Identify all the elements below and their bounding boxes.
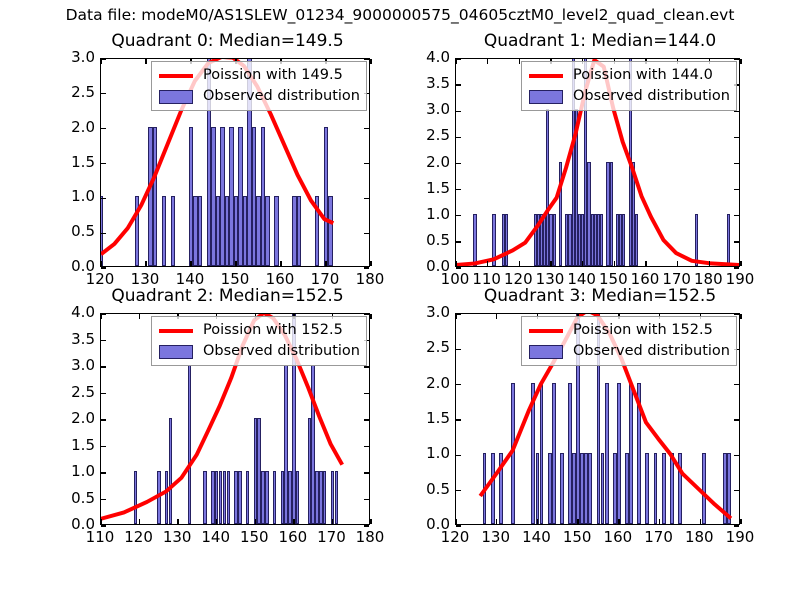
x-axis-tick [740,314,741,319]
x-axis-label: 160 [604,530,633,545]
y-axis-tick [734,58,739,59]
y-axis-label: 4.0 [426,50,450,65]
x-axis-tick [100,261,101,266]
x-axis-tick [550,261,551,266]
y-axis-tick [101,313,106,314]
y-axis-tick [364,198,369,199]
legend-entry: Observed distribution [157,86,360,107]
y-axis-tick [364,366,369,367]
legend-line-swatch [159,329,193,333]
x-axis-tick [709,261,710,266]
quadrant-1-plot-area: Poission with 144.0Observed distribution [455,58,740,267]
legend-entry-label: Poission with 149.5 [197,65,343,86]
legend-entry: Poission with 144.0 [527,65,730,86]
legend-patch-swatch [529,345,563,359]
y-axis-label: 1.5 [71,155,95,170]
x-axis-tick [659,519,660,524]
legend-entry-label: Observed distribution [197,341,360,362]
legend-entry-label: Observed distribution [567,341,730,362]
figure-suptitle: Data file: modeM0/AS1SLEW_01234_90000005… [0,5,800,25]
y-axis-label: 3.0 [71,358,95,373]
x-axis-label: 140 [522,530,551,545]
x-axis-tick [455,519,456,524]
legend-entry: Poission with 149.5 [157,65,360,86]
x-axis-tick [496,314,497,319]
x-axis-tick [740,59,741,64]
x-axis-tick [100,519,101,524]
x-axis-label: 170 [644,530,673,545]
quadrant-1-title: Quadrant 1: Median=144.0 [400,30,800,52]
x-axis-label: 150 [240,530,269,545]
x-axis-tick [645,261,646,266]
y-axis-tick [101,163,106,164]
subplot-quadrant-2: Quadrant 2: Median=152.5Poission with 15… [55,285,400,555]
y-axis-tick [101,58,106,59]
x-axis-label: 140 [201,530,230,545]
y-axis-label: 0.5 [71,491,95,506]
x-axis-tick [487,261,488,266]
figure-canvas: Data file: modeM0/AS1SLEW_01234_90000005… [0,0,800,600]
x-axis-tick [216,519,217,524]
x-axis-tick [332,519,333,524]
x-axis-tick [614,261,615,266]
x-axis-label: 130 [163,530,192,545]
x-axis-tick [677,261,678,266]
x-axis-label: 130 [481,530,510,545]
legend-entry: Observed distribution [527,341,730,362]
legend-entry-label: Observed distribution [197,86,360,107]
x-axis-label: 120 [441,530,470,545]
x-axis-tick [370,59,371,64]
y-axis-tick [456,384,461,385]
legend-patch-swatch [159,345,193,359]
x-axis-tick [455,261,456,266]
subplot-quadrant-3: Quadrant 3: Median=152.5Poission with 15… [400,285,800,555]
x-axis-tick [100,314,101,319]
y-axis-tick [101,128,106,129]
x-axis-tick [235,261,236,266]
legend-line-swatch [529,329,563,333]
x-axis-tick [293,519,294,524]
y-axis-tick [734,267,739,268]
y-axis-label: 2.0 [426,155,450,170]
y-axis-tick [364,267,369,268]
y-axis-tick [456,111,461,112]
x-axis-tick [740,261,741,266]
y-axis-tick [734,189,739,190]
y-axis-label: 0.5 [71,224,95,239]
x-axis-label: 180 [356,530,385,545]
y-axis-tick [734,419,739,420]
y-axis-tick [364,313,369,314]
x-axis-tick [280,261,281,266]
y-axis-label: 1.5 [71,438,95,453]
y-axis-label: 0.5 [426,482,450,497]
x-axis-tick [370,261,371,266]
x-axis-tick [537,519,538,524]
x-axis-tick [255,519,256,524]
y-axis-tick [734,241,739,242]
x-axis-label: 160 [279,530,308,545]
y-axis-tick [364,472,369,473]
y-axis-tick [734,137,739,138]
legend-entry: Observed distribution [527,86,730,107]
y-axis-tick [101,472,106,473]
y-axis-tick [734,384,739,385]
x-axis-tick [370,519,371,524]
y-axis-label: 2.0 [426,376,450,391]
legend-entry-label: Poission with 152.5 [567,320,713,341]
quadrant-0-title: Quadrant 0: Median=149.5 [55,30,400,52]
y-axis-label: 2.0 [71,120,95,135]
y-axis-tick [101,499,106,500]
y-axis-tick [456,313,461,314]
x-axis-tick [139,519,140,524]
y-axis-tick [456,163,461,164]
x-axis-tick [487,59,488,64]
y-axis-tick [734,490,739,491]
quadrant-1-legend[interactable]: Poission with 144.0Observed distribution [521,61,737,111]
quadrant-3-legend[interactable]: Poission with 152.5Observed distribution [521,316,737,366]
legend-entry: Observed distribution [157,341,360,362]
y-axis-tick [734,163,739,164]
x-axis-tick [370,314,371,319]
y-axis-tick [364,525,369,526]
y-axis-label: 1.0 [71,464,95,479]
y-axis-label: 2.0 [71,411,95,426]
y-axis-tick [101,233,106,234]
quadrant-3-plot-area: Poission with 152.5Observed distribution [455,313,740,525]
legend-patch-swatch [159,90,193,104]
y-axis-label: 3.5 [71,332,95,347]
y-axis-tick [101,393,106,394]
y-axis-tick [456,215,461,216]
y-axis-tick [364,128,369,129]
y-axis-tick [456,267,461,268]
y-axis-tick [364,163,369,164]
y-axis-label: 2.5 [71,385,95,400]
x-axis-tick [740,519,741,524]
y-axis-label: 2.5 [426,128,450,143]
subplot-quadrant-1: Quadrant 1: Median=144.0Poission with 14… [400,30,800,295]
y-axis-label: 1.0 [426,207,450,222]
y-axis-tick [456,189,461,190]
quadrant-2-plot-area: Poission with 152.5Observed distribution [100,313,370,525]
x-axis-label: 110 [86,530,115,545]
legend-line-swatch [159,74,193,78]
x-axis-tick [700,519,701,524]
subplot-quadrant-0: Quadrant 0: Median=149.5Poission with 14… [55,30,400,295]
y-axis-label: 2.5 [426,340,450,355]
y-axis-tick [101,366,106,367]
y-axis-tick [734,313,739,314]
y-axis-label: 3.5 [426,76,450,91]
x-axis-tick [145,59,146,64]
y-axis-label: 1.5 [426,411,450,426]
y-axis-tick [364,419,369,420]
y-axis-label: 3.0 [426,102,450,117]
y-axis-label: 1.5 [426,181,450,196]
y-axis-tick [364,58,369,59]
y-axis-tick [456,455,461,456]
x-axis-label: 120 [124,530,153,545]
legend-entry-label: Observed distribution [567,86,730,107]
x-axis-tick [325,261,326,266]
y-axis-tick [456,84,461,85]
y-axis-tick [101,525,106,526]
y-axis-tick [734,525,739,526]
x-axis-tick [455,314,456,319]
legend-entry-label: Poission with 144.0 [567,65,713,86]
x-axis-tick [582,261,583,266]
y-axis-tick [456,490,461,491]
quadrant-2-title: Quadrant 2: Median=152.5 [55,285,400,307]
y-axis-label: 0.5 [426,233,450,248]
y-axis-tick [456,419,461,420]
x-axis-tick [519,59,520,64]
y-axis-tick [364,499,369,500]
y-axis-tick [456,58,461,59]
y-axis-label: 1.0 [71,189,95,204]
x-axis-label: 170 [317,530,346,545]
x-axis-label: 180 [685,530,714,545]
legend-entry-label: Poission with 152.5 [197,320,343,341]
quadrant-2-legend[interactable]: Poission with 152.5Observed distribution [151,316,367,366]
y-axis-tick [364,393,369,394]
x-axis-tick [190,261,191,266]
quadrant-3-title: Quadrant 3: Median=152.5 [400,285,800,307]
legend-entry: Poission with 152.5 [527,320,730,341]
y-axis-tick [364,233,369,234]
x-axis-tick [496,519,497,524]
x-axis-label: 150 [563,530,592,545]
y-axis-tick [364,446,369,447]
x-axis-tick [139,314,140,319]
legend-line-swatch [529,74,563,78]
quadrant-0-plot-area: Poission with 149.5Observed distribution [100,58,370,267]
y-axis-tick [101,93,106,94]
y-axis-label: 2.5 [71,85,95,100]
y-axis-label: 3.0 [71,50,95,65]
x-axis-tick [577,519,578,524]
legend-patch-swatch [529,90,563,104]
quadrant-0-legend[interactable]: Poission with 149.5Observed distribution [151,61,367,111]
y-axis-label: 1.0 [426,446,450,461]
y-axis-tick [101,340,106,341]
y-axis-tick [456,137,461,138]
y-axis-label: 3.0 [426,305,450,320]
y-axis-tick [456,349,461,350]
y-axis-label: 4.0 [71,305,95,320]
y-axis-tick [101,419,106,420]
x-axis-tick [519,261,520,266]
legend-entry: Poission with 152.5 [157,320,360,341]
y-axis-tick [456,241,461,242]
x-axis-tick [100,59,101,64]
y-axis-tick [101,446,106,447]
x-axis-tick [145,261,146,266]
y-axis-tick [101,198,106,199]
y-axis-tick [101,267,106,268]
y-axis-tick [734,215,739,216]
x-axis-tick [618,519,619,524]
x-axis-tick [177,519,178,524]
y-axis-tick [456,525,461,526]
x-axis-label: 190 [726,530,755,545]
y-axis-tick [734,455,739,456]
x-axis-tick [455,59,456,64]
